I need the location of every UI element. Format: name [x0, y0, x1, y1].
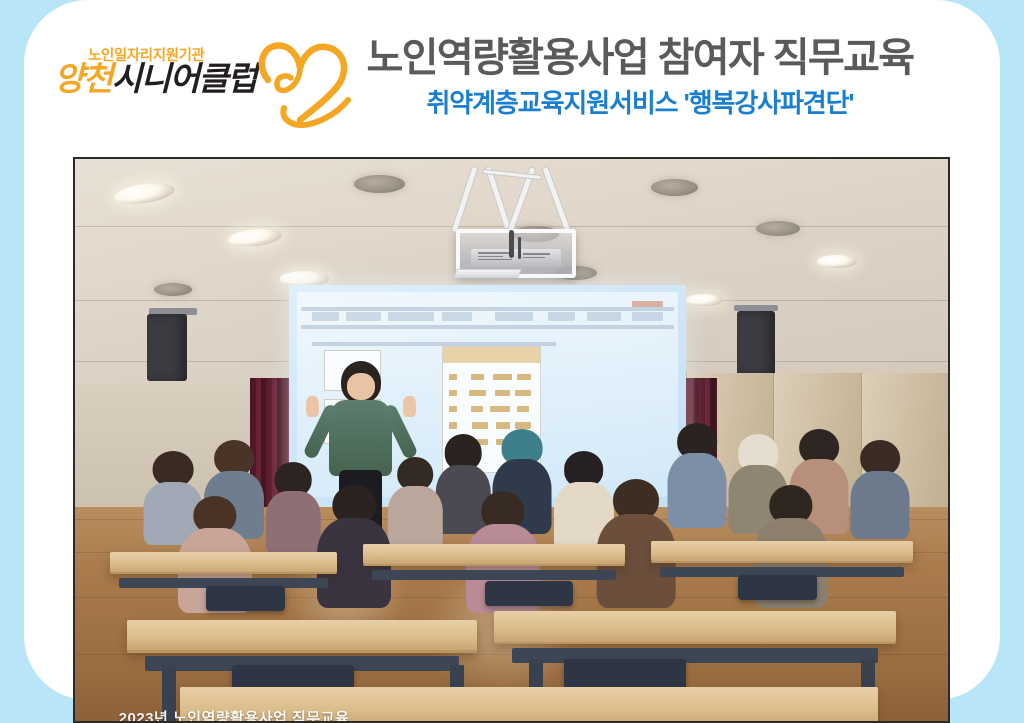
photo-frame: 2023년 노인역량활용사업 직무교육	[73, 157, 950, 723]
title-block: 노인역량활용사업 참여자 직무교육 취약계층교육지원서비스 '행복강사파견단'	[310, 36, 970, 119]
page-subtitle: 취약계층교육지원서비스 '행복강사파견단'	[310, 89, 970, 119]
page-title: 노인역량활용사업 참여자 직무교육	[310, 36, 970, 81]
ceiling-light	[354, 175, 405, 193]
projector-body	[471, 249, 561, 267]
audience-member	[852, 440, 909, 536]
classroom-desk	[494, 611, 896, 642]
brand-logo: 노인일자리지원기관 양천시니어클럽	[54, 40, 314, 136]
classroom-chair	[738, 575, 817, 600]
ceiling-projector	[450, 165, 581, 289]
classroom-chair	[206, 586, 285, 611]
brand-wordmark-orange: 양천	[54, 60, 112, 97]
classroom-photo: 2023년 노인역량활용사업 직무교육	[75, 159, 948, 721]
classroom-chair	[485, 581, 572, 606]
audience-member	[669, 423, 726, 524]
ceiling-light	[280, 271, 329, 286]
ceiling-light	[686, 294, 723, 306]
classroom-desk	[363, 544, 625, 564]
ceiling-light	[756, 221, 800, 236]
ceiling-light	[154, 283, 192, 296]
classroom-desk	[127, 620, 476, 651]
slide-root: 노인일자리지원기관 양천시니어클럽 노인역량활용사업 참여자 직무교육 취약계층…	[0, 0, 1024, 723]
projector-cage	[456, 229, 576, 278]
classroom-desk	[651, 541, 913, 561]
content-card: 노인일자리지원기관 양천시니어클럽 노인역량활용사업 참여자 직무교육 취약계층…	[24, 0, 1000, 700]
brand-wordmark-black: 시니어클럽	[112, 60, 256, 97]
projector-flap	[453, 269, 522, 278]
ceiling-light	[817, 255, 857, 268]
header-bar: 노인일자리지원기관 양천시니어클럽 노인역량활용사업 참여자 직무교육 취약계층…	[24, 0, 1000, 152]
classroom-desk	[110, 552, 337, 572]
photo-caption: 2023년 노인역량활용사업 직무교육	[119, 707, 350, 721]
wall-speaker	[147, 314, 187, 381]
audience-member	[267, 462, 319, 552]
wall-speaker	[737, 311, 775, 376]
audience-member	[389, 457, 441, 547]
brand-wordmark: 양천시니어클럽	[54, 62, 256, 95]
